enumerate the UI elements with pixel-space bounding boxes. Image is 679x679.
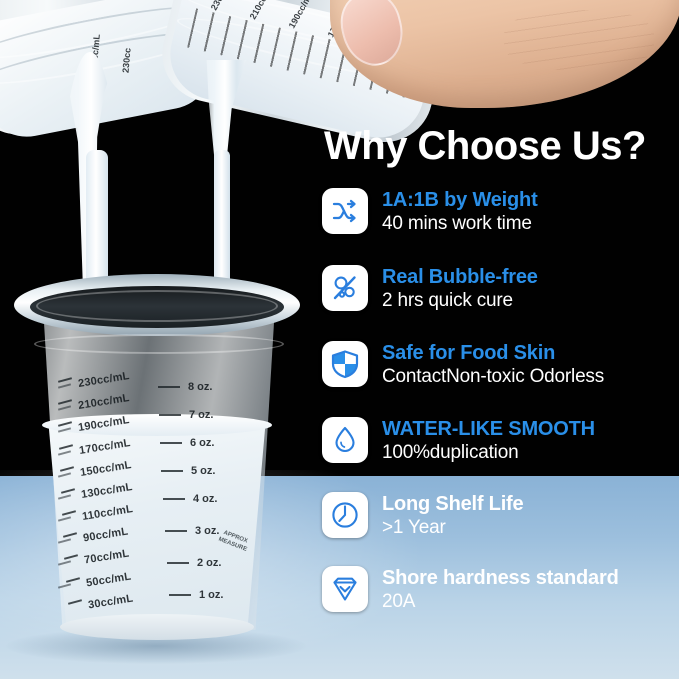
cup-band: [34, 334, 284, 354]
grad-dash: [62, 510, 76, 516]
oz-dash: [161, 470, 183, 472]
grad-dash: [61, 488, 75, 494]
page-title: Why Choose Us?: [324, 124, 646, 168]
feature-title: Long Shelf Life: [382, 493, 523, 516]
feature-title: Shore hardness standard: [382, 567, 619, 590]
grad-dash: [63, 532, 77, 538]
grad-dash: [59, 444, 73, 450]
gem-icon: [322, 566, 368, 612]
oz-dash: [159, 414, 181, 416]
feature-title: WATER-LIKE SMOOTH: [382, 418, 595, 441]
feature-subtitle: >1 Year: [382, 516, 523, 539]
feature-title: 1A:1B by Weight: [382, 189, 538, 212]
no-bubbles-icon: [322, 265, 368, 311]
grad-dash: [60, 466, 74, 472]
oz-dash: [158, 386, 180, 388]
product-feature-image: 100cc/mL 230cc 230cc/mL 210cc/mL 190cc/m…: [0, 0, 679, 679]
oz-dash: [167, 562, 189, 564]
oz-label: 8 oz.: [188, 381, 212, 393]
hand-creases: [504, 10, 654, 70]
feature-subtitle: 100%duplication: [382, 441, 595, 464]
feature-item-shelf-life: Long Shelf Life >1 Year: [322, 492, 523, 539]
feature-title: Safe for Food Skin: [382, 342, 604, 365]
grad-dash: [58, 399, 72, 405]
grad-dash: [68, 599, 82, 605]
oz-dash: [165, 530, 187, 532]
oz-label: 1 oz.: [199, 589, 223, 601]
feature-item-bubble-free: Real Bubble-free 2 hrs quick cure: [322, 265, 538, 312]
cup-rim-lip: [36, 290, 278, 322]
cup-base: [60, 614, 254, 640]
grad-dash: [58, 421, 72, 427]
feature-subtitle: 40 mins work time: [382, 212, 538, 235]
feature-subtitle: 20A: [382, 590, 619, 613]
oz-label: 2 oz.: [197, 557, 221, 569]
measuring-cup: [14, 274, 300, 646]
oz-label: 5 oz.: [191, 465, 215, 477]
feature-subtitle: ContactNon-toxic Odorless: [382, 365, 604, 388]
feature-title: Real Bubble-free: [382, 266, 538, 289]
oz-dash: [160, 442, 182, 444]
oz-dash: [169, 594, 191, 596]
shuffle-icon: [322, 188, 368, 234]
oz-label: 6 oz.: [190, 437, 214, 449]
water-drop-icon: [322, 417, 368, 463]
grad-dash: [64, 554, 78, 560]
feature-subtitle: 2 hrs quick cure: [382, 289, 538, 312]
grad-dash: [58, 377, 72, 383]
grad-dash: [66, 577, 80, 583]
shield-icon: [322, 341, 368, 387]
feature-item-water-like: WATER-LIKE SMOOTH 100%duplication: [322, 417, 595, 464]
feature-item-hardness: Shore hardness standard 20A: [322, 566, 619, 613]
feature-item-ratio: 1A:1B by Weight 40 mins work time: [322, 188, 538, 235]
feature-item-food-safe: Safe for Food Skin ContactNon-toxic Odor…: [322, 341, 604, 388]
clock-icon: [322, 492, 368, 538]
oz-label: 4 oz.: [193, 493, 217, 505]
oz-dash: [163, 498, 185, 500]
oz-label: 7 oz.: [189, 409, 213, 421]
